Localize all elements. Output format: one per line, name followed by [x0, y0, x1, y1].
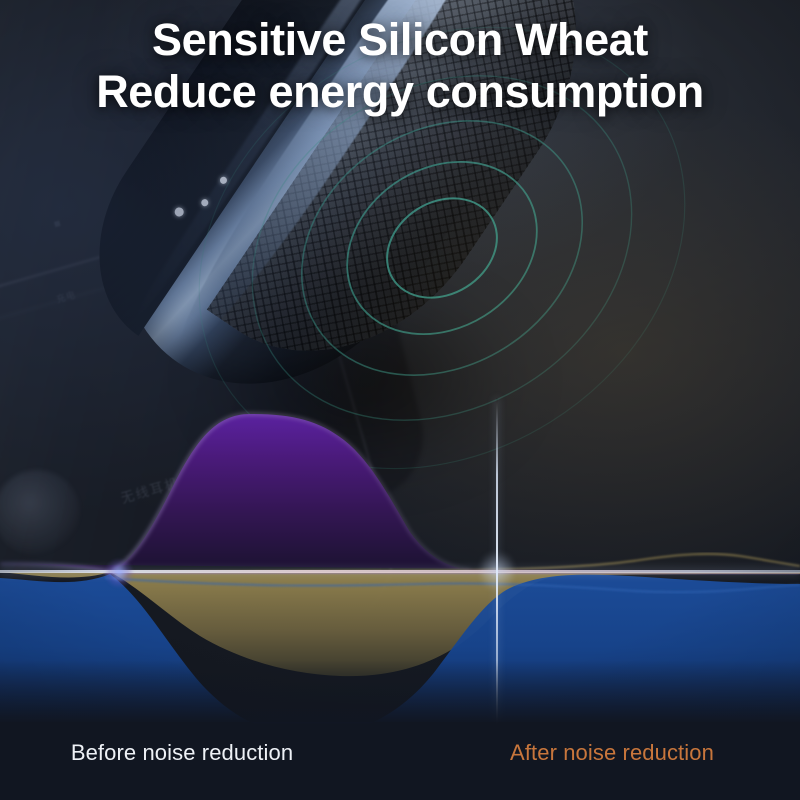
bottom-fade-overlay [0, 660, 800, 800]
caption-after-noise-reduction: After noise reduction [400, 740, 800, 766]
promo-banner: ■ 充电 无线耳机 [0, 0, 800, 800]
caption-row: Before noise reduction After noise reduc… [0, 740, 800, 766]
caption-before-noise-reduction: Before noise reduction [0, 740, 400, 766]
